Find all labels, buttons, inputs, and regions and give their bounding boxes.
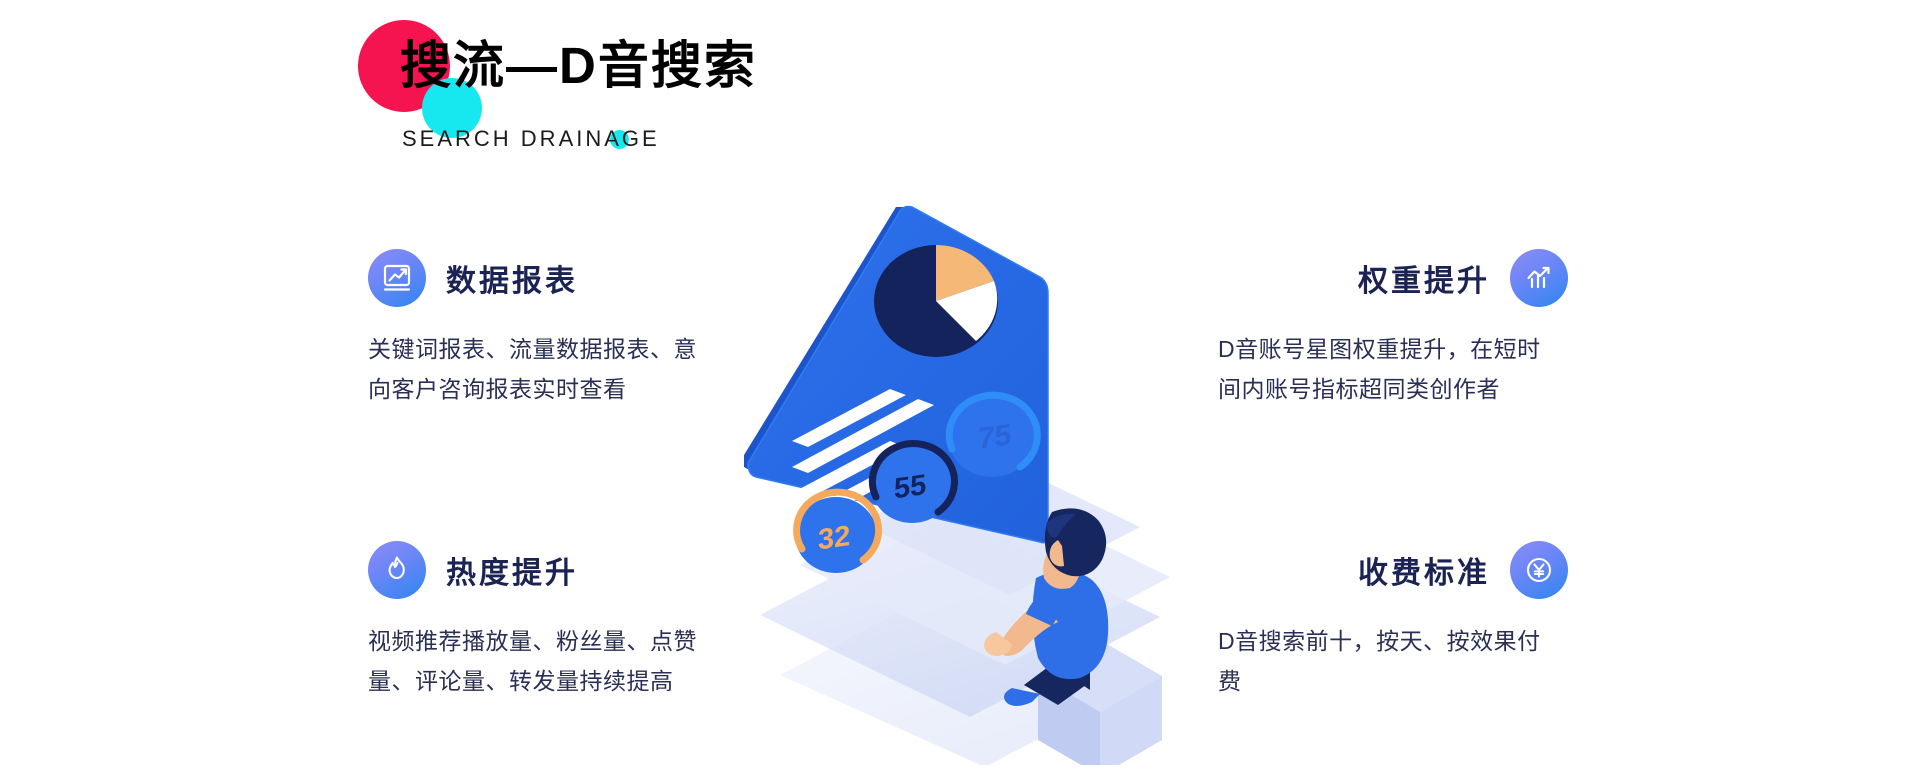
feature-card-data-report: 数据报表 关键词报表、流量数据报表、意向客户咨询报表实时查看	[368, 248, 718, 409]
isometric-dashboard-illustration: 75 55 32	[740, 205, 1200, 765]
bar-growth-icon	[1510, 249, 1568, 307]
gauge-32: 32	[795, 492, 879, 573]
flame-icon	[368, 541, 426, 599]
feature-description: 关键词报表、流量数据报表、意向客户咨询报表实时查看	[368, 330, 698, 409]
feature-description: D音搜索前十，按天、按效果付费	[1218, 622, 1548, 701]
brand-logo: 搜流—D音搜索 SEARCH DRAINAGE	[352, 18, 792, 148]
feature-title: 权重提升	[1358, 256, 1490, 300]
feature-title: 收费标准	[1358, 548, 1490, 592]
feature-header: 热度提升	[368, 540, 718, 600]
svg-text:75: 75	[978, 418, 1011, 456]
feature-header: 收费标准	[1218, 540, 1568, 600]
page-title: 搜流—D音搜索	[400, 38, 757, 94]
feature-title: 热度提升	[446, 548, 578, 592]
feature-header: 权重提升	[1218, 248, 1568, 308]
svg-text:32: 32	[818, 520, 850, 556]
chart-report-icon	[368, 249, 426, 307]
pie-chart	[874, 245, 998, 357]
gauge-55: 55	[871, 444, 954, 523]
feature-title: 数据报表	[446, 256, 578, 300]
feature-card-weight-boost: 权重提升 D音账号星图权重提升，在短时间内账号指标超同类创作者	[1218, 248, 1568, 409]
yuan-coin-icon	[1510, 541, 1568, 599]
svg-text:55: 55	[894, 469, 926, 505]
feature-description: D音账号星图权重提升，在短时间内账号指标超同类创作者	[1218, 330, 1548, 409]
feature-description: 视频推荐播放量、粉丝量、点赞量、评论量、转发量持续提高	[368, 622, 698, 701]
feature-card-heat-boost: 热度提升 视频推荐播放量、粉丝量、点赞量、评论量、转发量持续提高	[368, 540, 718, 701]
feature-header: 数据报表	[368, 248, 718, 308]
feature-card-price: 收费标准 D音搜索前十，按天、按效果付费	[1218, 540, 1568, 701]
page-subtitle: SEARCH DRAINAGE	[402, 126, 660, 152]
gauge-75: 75	[948, 395, 1037, 477]
